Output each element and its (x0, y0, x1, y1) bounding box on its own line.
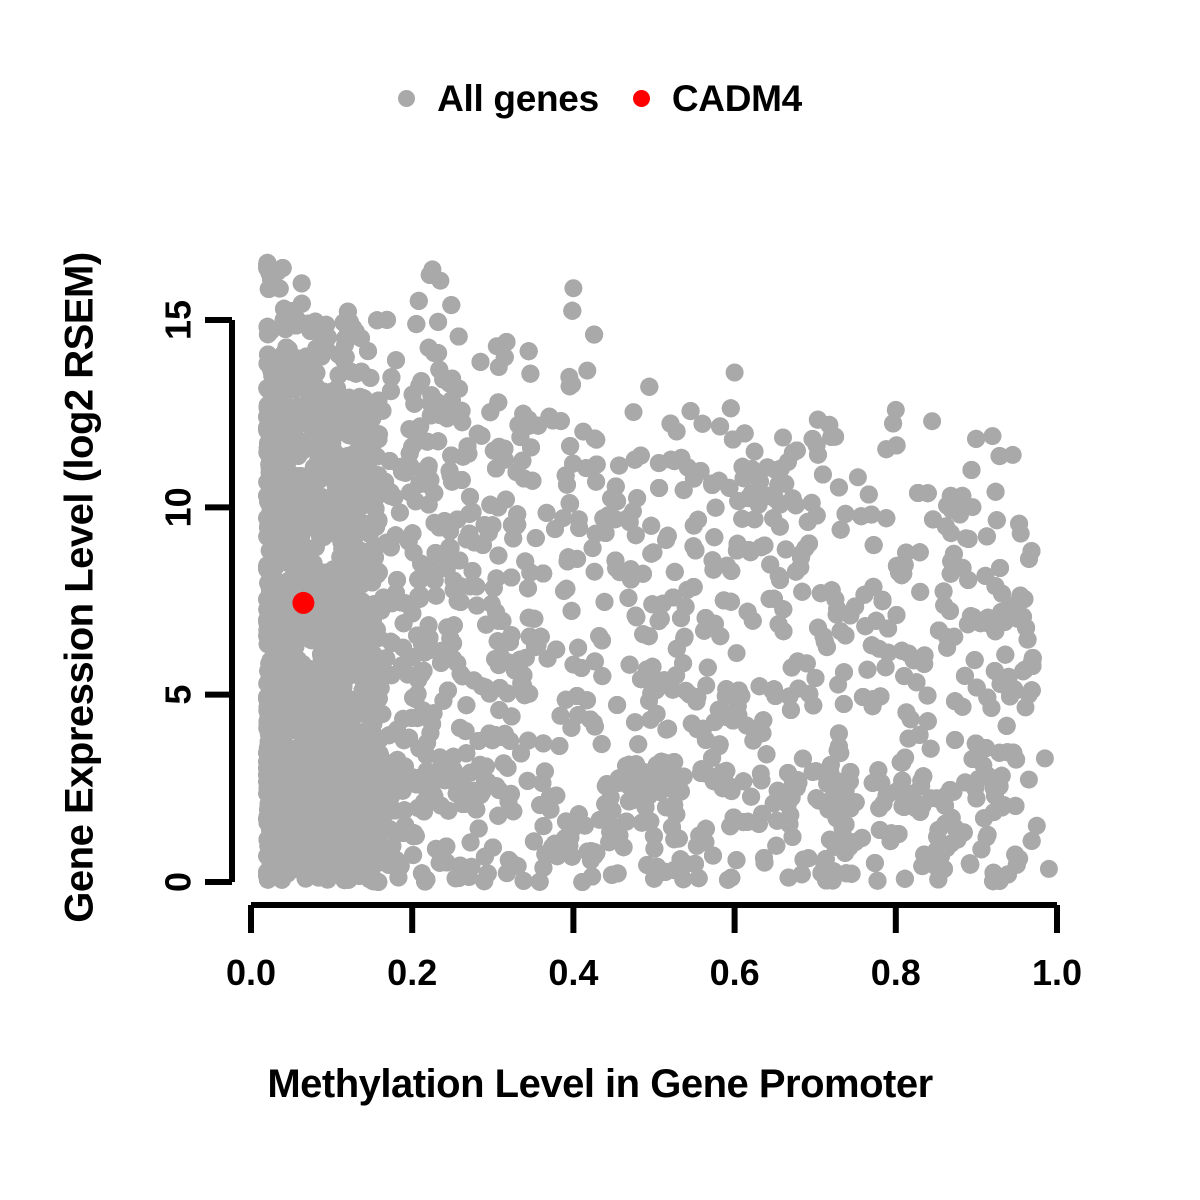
x-tick-label: 0.0 (226, 952, 276, 993)
highlight-point-layer (292, 592, 314, 614)
y-tick-label: 15 (158, 300, 199, 340)
scatter-plot-figure: All genes CADM4 0510150.00.20.40.60.81.0… (0, 0, 1200, 1200)
y-axis-title: Gene Expression Level (log2 RSEM) (58, 148, 103, 1028)
x-tick-label: 0.8 (871, 952, 921, 993)
y-tick-label: 0 (158, 872, 199, 892)
data-points-layer (258, 254, 1058, 891)
x-tick-label: 0.2 (387, 952, 437, 993)
x-axis-title: Methylation Level in Gene Promoter (0, 1062, 1200, 1107)
highlight-point-cadm4 (292, 592, 314, 614)
x-tick-label: 0.6 (710, 952, 760, 993)
plot-canvas: 0510150.00.20.40.60.81.0 (0, 0, 1200, 1200)
y-tick-label: 5 (158, 685, 199, 705)
x-tick-label: 0.4 (548, 952, 598, 993)
x-tick-label: 1.0 (1032, 952, 1082, 993)
y-tick-label: 10 (158, 487, 199, 527)
